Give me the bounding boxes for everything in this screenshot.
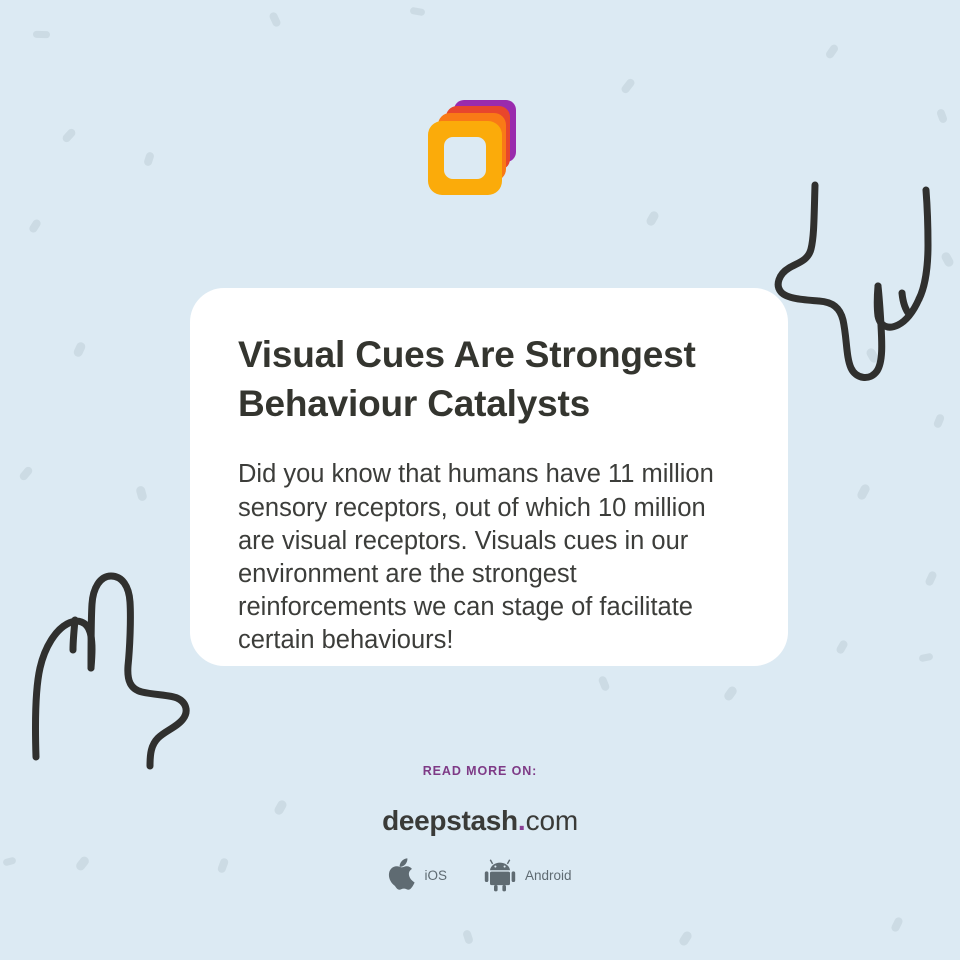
confetti-mark <box>18 465 34 482</box>
confetti-mark <box>933 413 946 429</box>
logo-layer-amber <box>428 121 502 195</box>
wordmark-dot: . <box>518 805 526 836</box>
store-badges: iOS <box>0 858 960 892</box>
deepstash-wordmark[interactable]: deepstash.com <box>0 805 960 837</box>
android-store-badge[interactable]: Android <box>483 858 572 892</box>
confetti-mark <box>143 151 155 167</box>
confetti-mark <box>135 485 148 502</box>
confetti-mark <box>856 483 871 501</box>
confetti-mark <box>462 929 474 945</box>
confetti-mark <box>33 31 50 39</box>
card-title: Visual Cues Are Strongest Behaviour Cata… <box>238 330 740 428</box>
hand-pointing-down-icon <box>767 175 952 395</box>
confetti-mark <box>940 251 955 268</box>
confetti-mark <box>597 675 610 692</box>
apple-icon <box>388 858 416 892</box>
poster-canvas: Visual Cues Are Strongest Behaviour Cata… <box>0 0 960 960</box>
confetti-mark <box>678 930 694 947</box>
confetti-mark <box>620 77 636 95</box>
card-body: Did you know that humans have 11 million… <box>238 458 740 657</box>
hand-pointing-up-icon <box>22 558 202 778</box>
ios-store-label: iOS <box>424 868 447 883</box>
wordmark-tld: com <box>526 805 578 836</box>
ios-store-badge[interactable]: iOS <box>388 858 447 892</box>
confetti-mark <box>835 639 849 655</box>
confetti-mark <box>890 916 904 933</box>
deepstash-logo <box>428 100 520 195</box>
confetti-mark <box>824 43 839 60</box>
android-icon <box>483 858 517 892</box>
confetti-mark <box>61 127 77 144</box>
android-store-label: Android <box>525 868 572 883</box>
read-more-label: READ MORE ON: <box>0 764 960 778</box>
confetti-mark <box>936 108 948 124</box>
confetti-mark <box>865 347 880 364</box>
confetti-mark <box>918 653 933 663</box>
confetti-mark <box>723 685 739 702</box>
wordmark-brand: deepstash <box>382 805 518 836</box>
confetti-mark <box>645 210 660 227</box>
confetti-mark <box>268 11 282 28</box>
content-card: Visual Cues Are Strongest Behaviour Cata… <box>190 288 788 666</box>
footer: READ MORE ON: deepstash.com iOS <box>0 764 960 892</box>
confetti-mark <box>28 218 42 234</box>
confetti-mark <box>410 7 426 16</box>
confetti-mark <box>72 341 86 358</box>
confetti-mark <box>924 570 938 587</box>
